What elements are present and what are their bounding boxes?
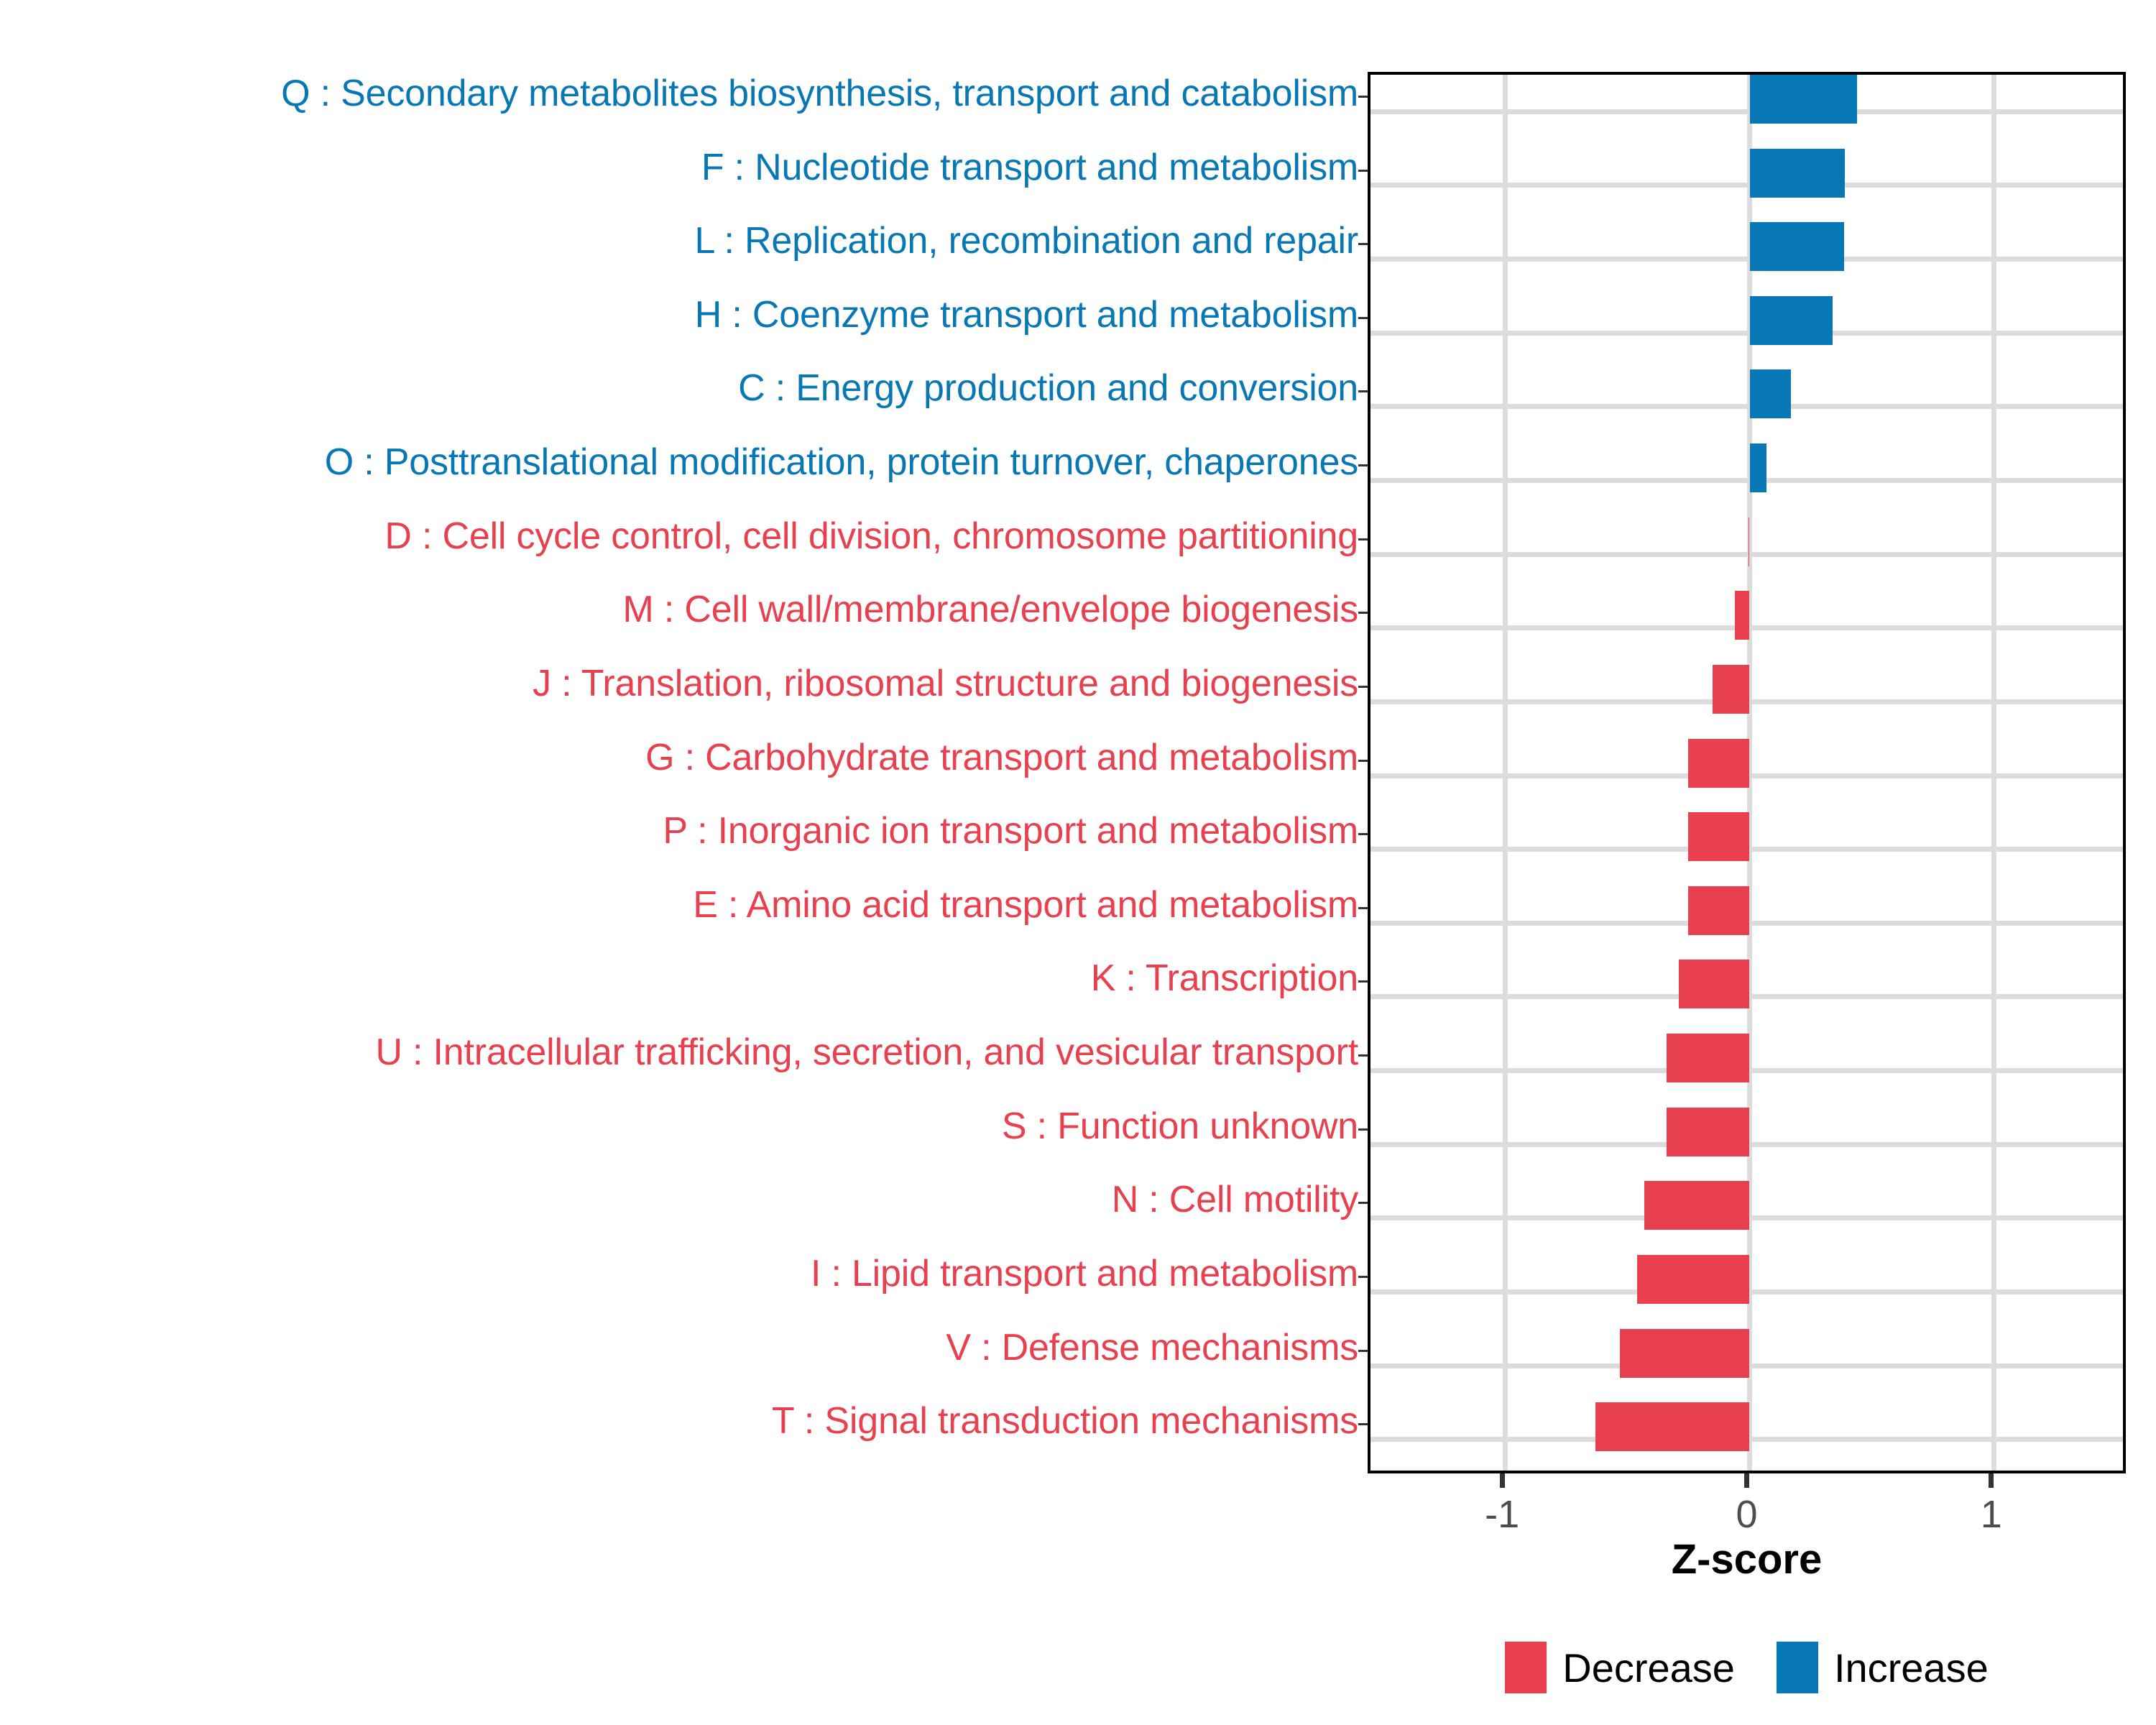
bar[interactable] [1750,296,1833,345]
x-axis-title: Z-score [1368,1535,2126,1583]
category-label: E : Amino acid transport and metabolism [0,886,1358,924]
bar[interactable] [1667,1108,1750,1156]
y-axis-tick [1358,96,1368,98]
category-label-column: Q : Secondary metabolites biosynthesis, … [0,72,1358,1473]
category-label: H : Coenzyme transport and metabolism [0,296,1358,333]
horizontal-gridline [1370,257,2123,262]
y-axis-tick [1358,464,1368,466]
bar[interactable] [1679,960,1750,1008]
y-axis-tick [1358,538,1368,540]
y-axis-tick [1358,317,1368,319]
legend-label-increase: Increase [1834,1644,1989,1691]
cog-zscore-bar-chart: Q : Secondary metabolites biosynthesis, … [0,0,2156,1725]
category-label: F : Nucleotide transport and metabolism [0,149,1358,186]
y-axis-tick [1358,1350,1368,1352]
x-axis-tick [1500,1473,1505,1488]
bar[interactable] [1667,1034,1750,1082]
category-label: U : Intracellular trafficking, secretion… [0,1034,1358,1071]
category-label: D : Cell cycle control, cell division, c… [0,517,1358,555]
y-axis-tick [1358,980,1368,983]
legend: Decrease Increase [1368,1628,2126,1707]
horizontal-gridline [1370,183,2123,188]
bar[interactable] [1750,75,1858,124]
y-axis-tick [1358,1276,1368,1278]
y-axis-tick [1358,243,1368,245]
legend-item-decrease[interactable]: Decrease [1505,1642,1735,1693]
category-label: O : Posttranslational modification, prot… [0,443,1358,481]
category-label: C : Energy production and conversion [0,369,1358,407]
y-axis-tick [1358,686,1368,688]
bar[interactable] [1750,222,1844,271]
category-label: K : Transcription [0,960,1358,997]
y-axis-tick [1358,1054,1368,1057]
x-axis-tick-label: 0 [1736,1492,1757,1537]
y-axis-tick [1358,760,1368,762]
category-label: J : Translation, ribosomal structure and… [0,665,1358,702]
category-label: P : Inorganic ion transport and metaboli… [0,812,1358,850]
y-axis-tick [1358,1423,1368,1425]
y-axis-tick [1358,1202,1368,1204]
legend-label-decrease: Decrease [1562,1644,1735,1691]
y-axis-tick [1358,1128,1368,1131]
horizontal-gridline [1370,552,2123,557]
y-axis-tick [1358,907,1368,909]
bar[interactable] [1713,665,1749,714]
bar[interactable] [1637,1255,1750,1304]
y-axis-tick [1358,612,1368,614]
bar[interactable] [1750,149,1846,198]
bar[interactable] [1688,739,1749,788]
y-axis-tick [1358,170,1368,172]
x-axis-tick-label: -1 [1485,1492,1519,1537]
horizontal-gridline [1370,478,2123,483]
category-label: I : Lipid transport and metabolism [0,1255,1358,1292]
legend-swatch-decrease-icon [1505,1642,1547,1693]
bar[interactable] [1735,591,1749,640]
category-label: L : Replication, recombination and repai… [0,222,1358,259]
bar[interactable] [1688,886,1749,935]
y-axis-tick [1358,833,1368,835]
bar[interactable] [1749,517,1750,566]
category-label: N : Cell motility [0,1181,1358,1218]
bar[interactable] [1595,1402,1749,1451]
category-label: S : Function unknown [0,1108,1358,1145]
category-label: T : Signal transduction mechanisms [0,1402,1358,1440]
horizontal-gridline [1370,404,2123,409]
category-label: G : Carbohydrate transport and metabolis… [0,739,1358,776]
bar[interactable] [1620,1329,1749,1378]
category-label: M : Cell wall/membrane/envelope biogenes… [0,591,1358,628]
x-axis-tick-label: 1 [1981,1492,2002,1537]
bar[interactable] [1750,443,1767,492]
y-axis-tick [1358,390,1368,392]
bar[interactable] [1688,812,1749,861]
bar[interactable] [1750,369,1792,418]
category-label: Q : Secondary metabolites biosynthesis, … [0,75,1358,112]
x-axis-tick [1744,1473,1749,1488]
category-label: V : Defense mechanisms [0,1329,1358,1366]
horizontal-gridline [1370,331,2123,336]
bar[interactable] [1644,1181,1749,1230]
plot-panel [1368,72,2126,1473]
legend-item-increase[interactable]: Increase [1777,1642,1989,1693]
x-axis-tick [1989,1473,1994,1488]
horizontal-gridline [1370,109,2123,114]
legend-swatch-increase-icon [1777,1642,1818,1693]
